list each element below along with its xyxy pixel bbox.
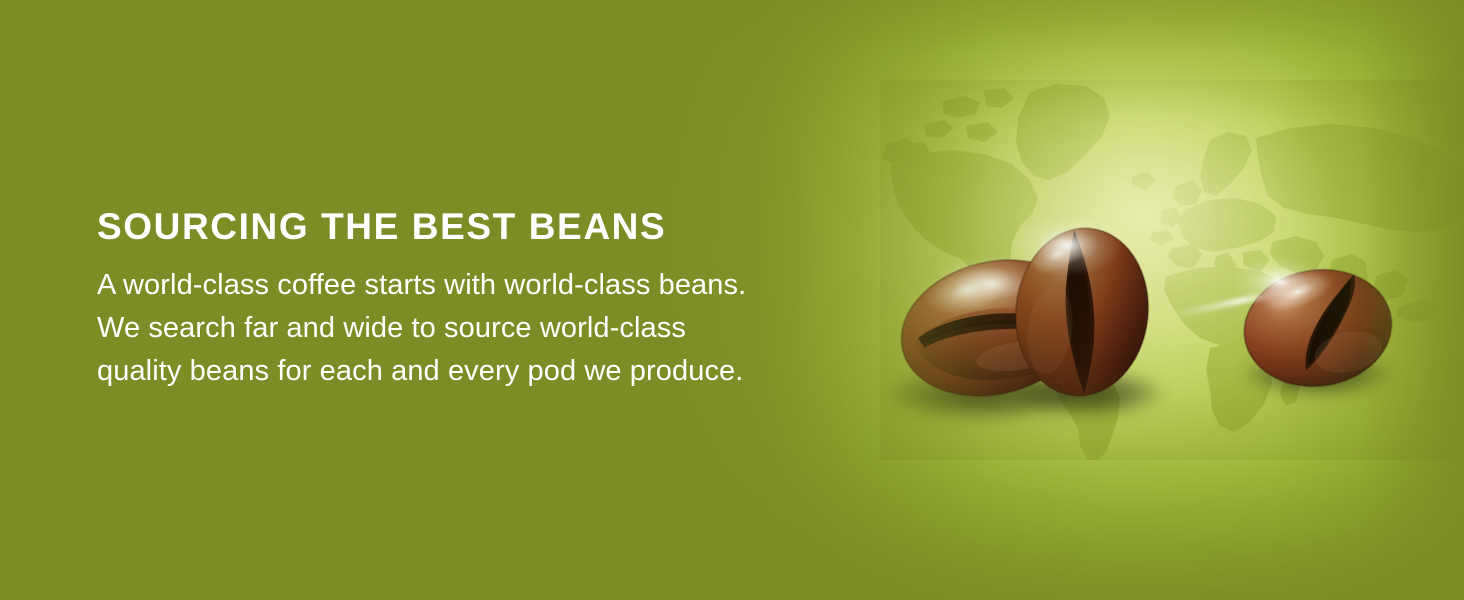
banner-copy: SOURCING THE BEST BEANS A world-class co… xyxy=(97,208,877,393)
description-line-1: A world-class coffee starts with world-c… xyxy=(97,264,877,307)
banner-description: A world-class coffee starts with world-c… xyxy=(97,245,877,393)
description-line-3: quality beans for each and every pod we … xyxy=(97,350,877,393)
description-line-2: We search far and wide to source world-c… xyxy=(97,307,877,350)
page-title: SOURCING THE BEST BEANS xyxy=(97,208,877,245)
sourcing-beans-banner: SOURCING THE BEST BEANS A world-class co… xyxy=(0,0,1464,600)
